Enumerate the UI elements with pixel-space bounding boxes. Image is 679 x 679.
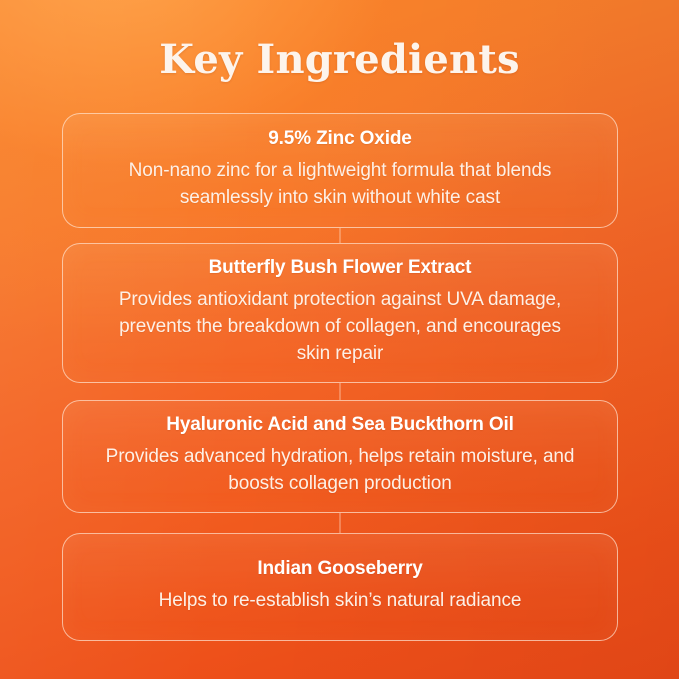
card-connector-line [62,228,618,243]
ingredient-description: Helps to re-establish skin’s natural rad… [159,587,522,614]
ingredient-description: Non-nano zinc for a lightweight formula … [105,157,575,211]
ingredient-card-butterfly-bush-flower-extract: Butterfly Bush Flower Extract Provides a… [62,243,618,383]
ingredient-card-zinc-oxide: 9.5% Zinc Oxide Non-nano zinc for a ligh… [62,113,618,228]
card-connector-line [62,513,618,533]
key-ingredients-poster: Key Ingredients 9.5% Zinc Oxide Non-nano… [0,0,679,679]
ingredient-description: Provides antioxidant protection against … [105,286,575,367]
ingredient-title: Indian Gooseberry [257,556,422,582]
card-connector-line [62,383,618,400]
ingredient-title: 9.5% Zinc Oxide [268,126,411,152]
page-title: Key Ingredients [0,36,679,84]
ingredient-card-hyaluronic-acid-sea-buckthorn-oil: Hyaluronic Acid and Sea Buckthorn Oil Pr… [62,400,618,513]
ingredient-card-list: 9.5% Zinc Oxide Non-nano zinc for a ligh… [62,113,618,641]
ingredient-description: Provides advanced hydration, helps retai… [105,443,575,497]
ingredient-card-indian-gooseberry: Indian Gooseberry Helps to re-establish … [62,533,618,641]
ingredient-title: Butterfly Bush Flower Extract [209,255,472,281]
ingredient-title: Hyaluronic Acid and Sea Buckthorn Oil [166,412,513,438]
